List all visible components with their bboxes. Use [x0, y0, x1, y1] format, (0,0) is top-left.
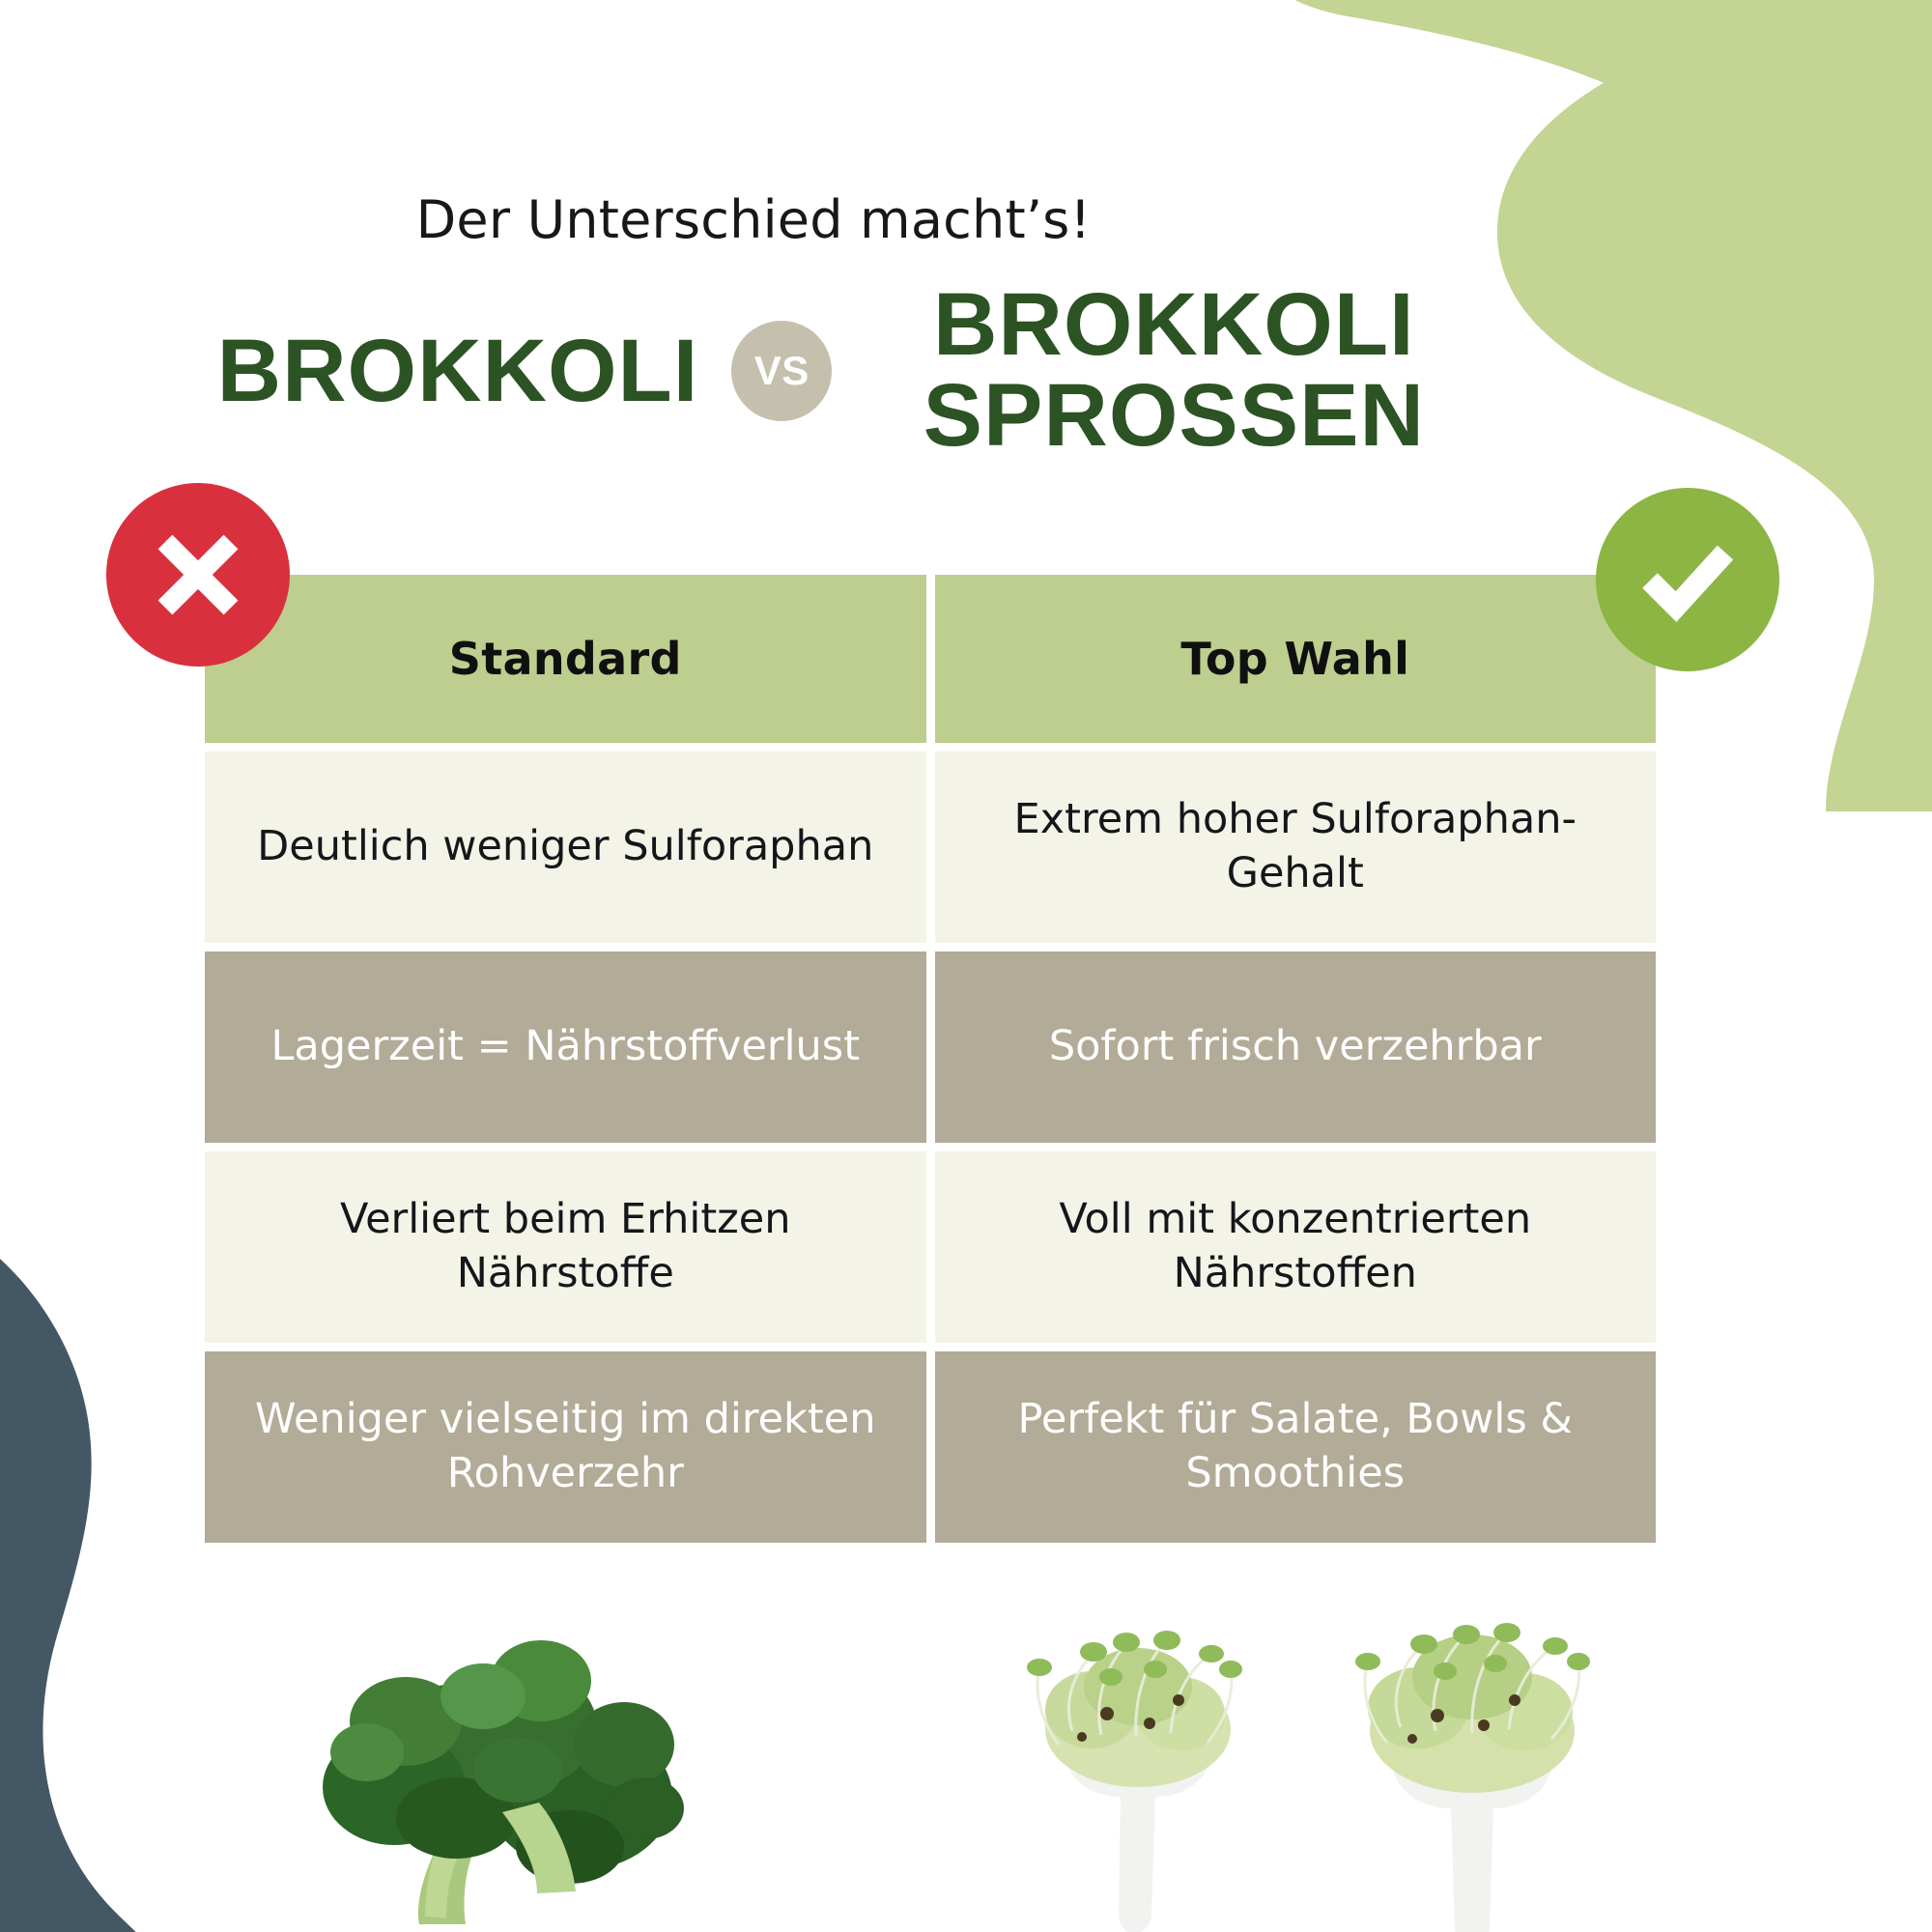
- table-row: Verliert beim Erhitzen Nährstoffe Voll m…: [205, 1151, 1656, 1343]
- table-cell-left-1: Deutlich weniger Sulforaphan: [205, 752, 926, 943]
- table-row: Weniger vielseitig im direkten Rohverzeh…: [205, 1351, 1656, 1543]
- produce-imagery: [0, 1507, 1932, 1932]
- table-cell-left-2: Lagerzeit = Nährstoffverlust: [205, 952, 926, 1143]
- table-row: Lagerzeit = Nährstoffverlust Sofort fris…: [205, 952, 1656, 1143]
- table-cell-left-3: Verliert beim Erhitzen Nährstoffe: [205, 1151, 926, 1343]
- status-badge-negative: [106, 483, 290, 667]
- status-badge-positive: [1596, 488, 1779, 671]
- headline-row: BROKKOLI VS BROKKOLI SPROSSEN: [0, 280, 1700, 462]
- comparison-table: Standard Top Wahl Deutlich weniger Sulfo…: [205, 575, 1656, 1543]
- headline-left: BROKKOLI: [217, 327, 699, 415]
- broccoli-sprouts-spoon-photo: [1027, 1631, 1242, 1932]
- table-header-row: Standard Top Wahl: [205, 575, 1656, 743]
- table-header-standard: Standard: [205, 575, 926, 743]
- table-cell-right-1: Extrem hoher Sulforaphan-Gehalt: [935, 752, 1657, 943]
- table-cell-left-4: Weniger vielseitig im direkten Rohverzeh…: [205, 1351, 926, 1543]
- table-cell-right-3: Voll mit konzentrierten Nährstoffen: [935, 1151, 1657, 1343]
- broccoli-head-photo: [323, 1640, 684, 1924]
- vs-badge: VS: [731, 321, 832, 421]
- page-kicker: Der Unterschied macht’s!: [0, 189, 1507, 250]
- table-cell-right-2: Sofort frisch verzehrbar: [935, 952, 1657, 1143]
- infographic-poster: Der Unterschied macht’s! BROKKOLI VS BRO…: [0, 0, 1932, 1932]
- check-icon: [1631, 523, 1745, 637]
- table-header-top-wahl: Top Wahl: [935, 575, 1657, 743]
- cross-icon: [144, 521, 252, 629]
- broccoli-sprouts-spoon-photo: [1355, 1623, 1590, 1932]
- table-cell-right-4: Perfekt für Salate, Bowls & Smoothies: [935, 1351, 1657, 1543]
- headline-right: BROKKOLI SPROSSEN: [865, 280, 1483, 462]
- table-row: Deutlich weniger Sulforaphan Extrem hohe…: [205, 752, 1656, 943]
